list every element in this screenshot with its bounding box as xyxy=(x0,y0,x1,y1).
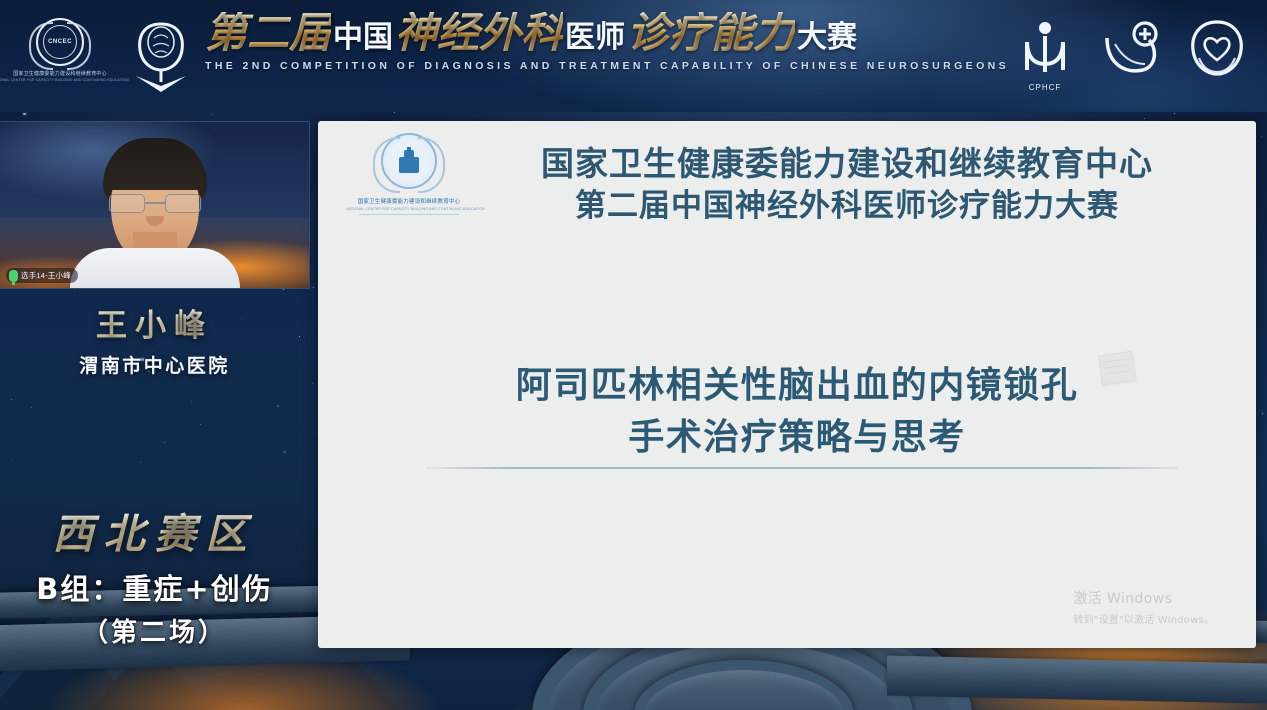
speaker-name: 王小峰 xyxy=(0,300,309,345)
speaker-organization: 渭南市中心医院 xyxy=(0,351,309,378)
broadcast-screen: CNCEC 国家卫生健康委能力建设和继续教育中心 NATIONAL CENTER… xyxy=(0,0,1267,710)
speaker-figure xyxy=(85,138,225,288)
slide-seal-icon xyxy=(381,133,437,189)
banner-title: 第二届中国神经外科医师诊疗能力大赛 THE 2ND COMPETITION OF… xyxy=(205,12,1035,72)
banner-partner-icons: CPHCF xyxy=(1013,18,1249,92)
slide-logo-rule xyxy=(359,214,459,215)
cncec-caption-en: NATIONAL CENTER FOR CAPACITY BUILDING AN… xyxy=(0,78,129,83)
slide-title-line1: 阿司匹林相关性脑出血的内镜锁孔 xyxy=(388,359,1206,413)
participant-name-badge: 选手14-王小峰 xyxy=(6,268,78,283)
cncec-seal-text: CNCEC xyxy=(43,25,77,59)
cphcf-caption: CPHCF xyxy=(1013,83,1077,92)
speaker-identity: 王小峰 渭南市中心医院 xyxy=(0,300,309,378)
speaker-video-panel[interactable]: 选手14-王小峰 xyxy=(0,122,309,288)
microphone-icon xyxy=(9,270,18,282)
banner-title-part-2: 神经外科 xyxy=(395,12,563,54)
trophy-icon xyxy=(126,20,196,94)
slide-title: 阿司匹林相关性脑出血的内镜锁孔 手术治疗策略与思考 xyxy=(388,359,1206,463)
banner-title-part-5: 大赛 xyxy=(797,23,857,53)
cncec-caption-cn: 国家卫生健康委能力建设和继续教育中心 xyxy=(0,71,129,78)
speaker-glasses xyxy=(109,194,201,214)
cphcf-person-icon: CPHCF xyxy=(1013,18,1077,92)
cncec-seal-icon: CNCEC xyxy=(36,18,84,66)
banner-title-main: 第二届中国神经外科医师诊疗能力大赛 xyxy=(205,12,1035,54)
slide-header: 国家卫生健康委能力建设和继续教育中心 第二届中国神经外科医师诊疗能力大赛 xyxy=(468,143,1226,228)
speaker-shirt xyxy=(70,248,240,288)
slide-title-divider xyxy=(426,467,1178,469)
slide-header-line1: 国家卫生健康委能力建设和继续教育中心 xyxy=(468,143,1226,186)
banner-title-part-3: 医师 xyxy=(565,23,625,53)
slide-title-line2: 手术治疗策略与思考 xyxy=(388,413,1206,463)
event-banner: CNCEC 国家卫生健康委能力建设和继续教育中心 NATIONAL CENTER… xyxy=(0,0,1267,112)
leaf-cross-icon xyxy=(1099,18,1163,92)
participant-badge-label: 选手14-王小峰 xyxy=(21,270,71,281)
glasses-right-lens xyxy=(165,194,201,213)
banner-subtitle: THE 2ND COMPETITION OF DIAGNOSIS AND TRE… xyxy=(205,60,1035,72)
speaker-fringe xyxy=(105,156,205,190)
windows-activation-watermark: 激活 Windows 转到"设置"以激活 Windows。 xyxy=(1073,588,1214,626)
cncec-logo: CNCEC 国家卫生健康委能力建设和继续教育中心 NATIONAL CENTER… xyxy=(14,18,106,94)
glasses-bridge xyxy=(145,202,165,204)
watermark-line2: 转到"设置"以激活 Windows。 xyxy=(1073,611,1214,626)
slide-logo-caption-en: NATIONAL CENTER FOR CAPACITY BUILDING AN… xyxy=(346,207,472,211)
region-info: 西北赛区 B组：重症+创伤 （第二场） xyxy=(0,500,309,649)
hands-heart-icon xyxy=(1185,18,1249,92)
banner-title-part-1: 中国 xyxy=(333,23,393,53)
presentation-slide[interactable]: 国家卫生健康委能力建设和继续教育中心 NATIONAL CENTER FOR C… xyxy=(318,121,1256,648)
region-group: B组：重症+创伤 xyxy=(0,566,309,608)
watermark-line1: 激活 Windows xyxy=(1073,588,1214,608)
glasses-left-lens xyxy=(109,194,145,213)
slide-logo-caption-cn: 国家卫生健康委能力建设和继续教育中心 xyxy=(346,197,472,205)
banner-title-part-0: 第二届 xyxy=(205,12,331,54)
slide-header-line2: 第二届中国神经外科医师诊疗能力大赛 xyxy=(468,186,1226,228)
banner-title-part-4: 诊疗能力 xyxy=(627,12,795,54)
cncec-logo-caption: 国家卫生健康委能力建设和继续教育中心 NATIONAL CENTER FOR C… xyxy=(0,71,129,83)
region-title: 西北赛区 xyxy=(0,500,309,560)
slide-organization-logo: 国家卫生健康委能力建设和继续教育中心 NATIONAL CENTER FOR C… xyxy=(346,133,472,215)
seal-tower-glyph xyxy=(396,147,422,175)
region-round: （第二场） xyxy=(0,612,309,649)
